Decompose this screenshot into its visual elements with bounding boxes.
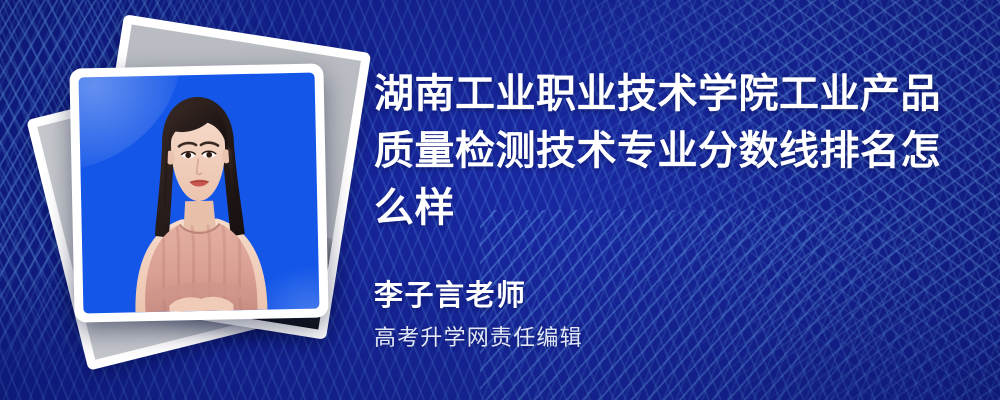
promo-banner: 湖南工业职业技术学院工业产品质量检测技术专业分数线排名怎么样 李子言老师 高考升…	[0, 0, 1000, 400]
photo-card-stack	[0, 0, 380, 400]
banner-title: 湖南工业职业技术学院工业产品质量检测技术专业分数线排名怎么样	[374, 66, 954, 236]
neck	[183, 201, 216, 234]
banner-text-block: 湖南工业职业技术学院工业产品质量检测技术专业分数线排名怎么样 李子言老师 高考升…	[374, 0, 974, 400]
portrait-card	[69, 63, 328, 322]
portrait-illustration	[79, 73, 320, 314]
author-name: 李子言老师	[374, 272, 527, 314]
author-role: 高考升学网责任编辑	[374, 320, 583, 352]
portrait-photo	[79, 73, 320, 314]
